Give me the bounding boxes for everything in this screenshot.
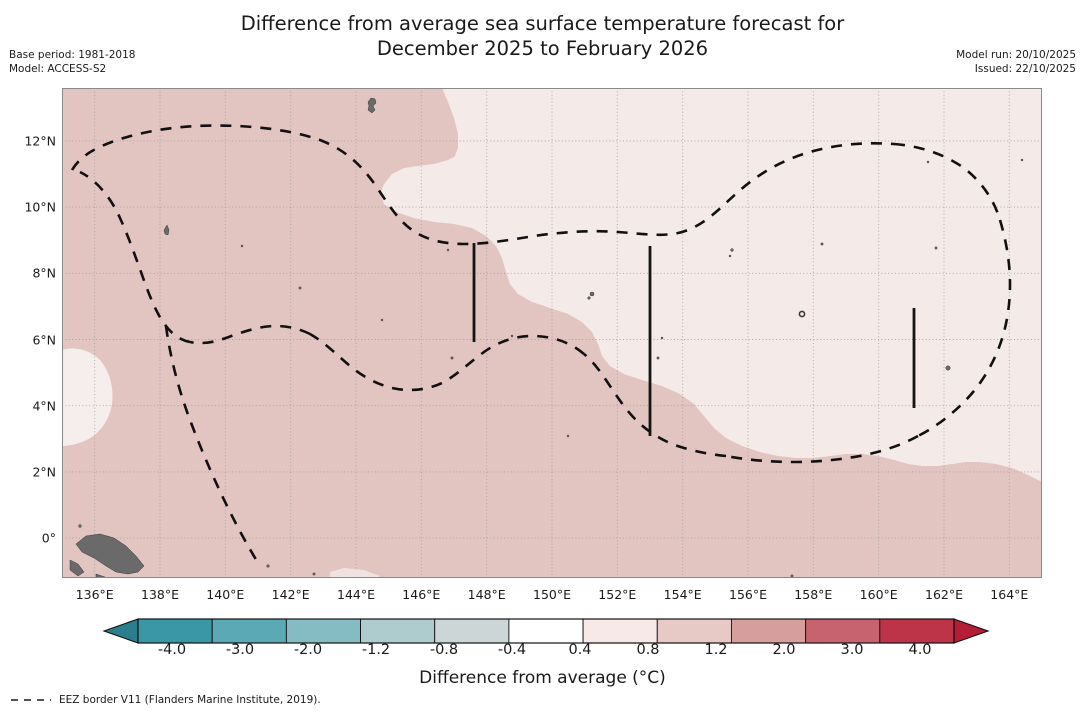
cb-tick--1.2: -1.2 [362, 642, 390, 658]
map-plot-area[interactable]: © Commonwealth of Australia 2025, Bureau… [62, 88, 1042, 578]
x-tick-142e: 142°E [272, 587, 310, 602]
colorbar-band [806, 619, 880, 643]
issued-text: Issued: 22/10/2025 [956, 63, 1076, 77]
cb-tick--3.0: -3.0 [226, 642, 254, 658]
x-tick-150e: 150°E [533, 587, 571, 602]
colorbar-band [435, 619, 509, 643]
colorbar-label: Difference from average (°C) [0, 668, 1085, 688]
y-tick-6n: 6°N [0, 332, 56, 347]
cb-tick-0.8: 0.8 [636, 642, 659, 658]
colorbar-bands [104, 619, 988, 643]
y-tick-12n: 12°N [0, 133, 56, 148]
cb-tick-3.0: 3.0 [840, 642, 863, 658]
y-tick-2n: 2°N [0, 464, 56, 479]
colorbar-band [731, 619, 805, 643]
x-tick-146e: 146°E [402, 587, 440, 602]
x-tick-162e: 162°E [925, 587, 963, 602]
eez-border-legend-icon [9, 695, 53, 705]
colorbar-band [509, 619, 583, 643]
colorbar-arrow-high [954, 619, 988, 643]
x-tick-138e: 138°E [141, 587, 179, 602]
colorbar-band [880, 619, 954, 643]
y-tick-8n: 8°N [0, 266, 56, 281]
figure-root: Difference from average sea surface temp… [0, 0, 1085, 713]
colorbar-band [286, 619, 360, 643]
model-text: Model: ACCESS-S2 [9, 63, 135, 77]
colorbar-arrow-low [104, 619, 138, 643]
metadata-left: Base period: 1981-2018 Model: ACCESS-S2 [9, 49, 135, 76]
footer-legend-label: EEZ border V11 (Flanders Marine Institut… [59, 694, 321, 706]
x-tick-140e: 140°E [206, 587, 244, 602]
colorbar-band [138, 619, 212, 643]
colorbar-band [212, 619, 286, 643]
cb-tick-1.2: 1.2 [704, 642, 727, 658]
metadata-right: Model run: 20/10/2025 Issued: 22/10/2025 [956, 49, 1076, 76]
model-run-text: Model run: 20/10/2025 [956, 49, 1076, 63]
x-tick-136e: 136°E [76, 587, 114, 602]
y-tick-4n: 4°N [0, 398, 56, 413]
map-svg [62, 88, 1042, 578]
cb-tick--0.4: -0.4 [498, 642, 526, 658]
cb-tick-2.0: 2.0 [772, 642, 795, 658]
colorbar-band [583, 619, 657, 643]
cb-tick--4.0: -4.0 [158, 642, 186, 658]
page-title: Difference from average sea surface temp… [0, 11, 1085, 61]
y-tick-10n: 10°N [0, 200, 56, 215]
x-tick-144e: 144°E [337, 587, 375, 602]
colorbar-band [657, 619, 731, 643]
x-tick-152e: 152°E [598, 587, 636, 602]
x-tick-160e: 160°E [860, 587, 898, 602]
x-tick-164e: 164°E [990, 587, 1028, 602]
x-tick-154e: 154°E [664, 587, 702, 602]
colorbar-band [361, 619, 435, 643]
x-tick-156e: 156°E [729, 587, 767, 602]
footer-legend: EEZ border V11 (Flanders Marine Institut… [9, 694, 321, 706]
cb-tick-4.0: 4.0 [908, 642, 931, 658]
colorbar-ticks: -4.0 -3.0 -2.0 -1.2 -0.8 -0.4 0.4 0.8 1.… [0, 642, 1085, 662]
cb-tick-0.4: 0.4 [568, 642, 591, 658]
cb-tick--2.0: -2.0 [294, 642, 322, 658]
y-tick-0: 0° [0, 531, 56, 546]
x-tick-148e: 148°E [468, 587, 506, 602]
cb-tick--0.8: -0.8 [430, 642, 458, 658]
base-period-text: Base period: 1981-2018 [9, 49, 135, 63]
x-tick-158e: 158°E [794, 587, 832, 602]
